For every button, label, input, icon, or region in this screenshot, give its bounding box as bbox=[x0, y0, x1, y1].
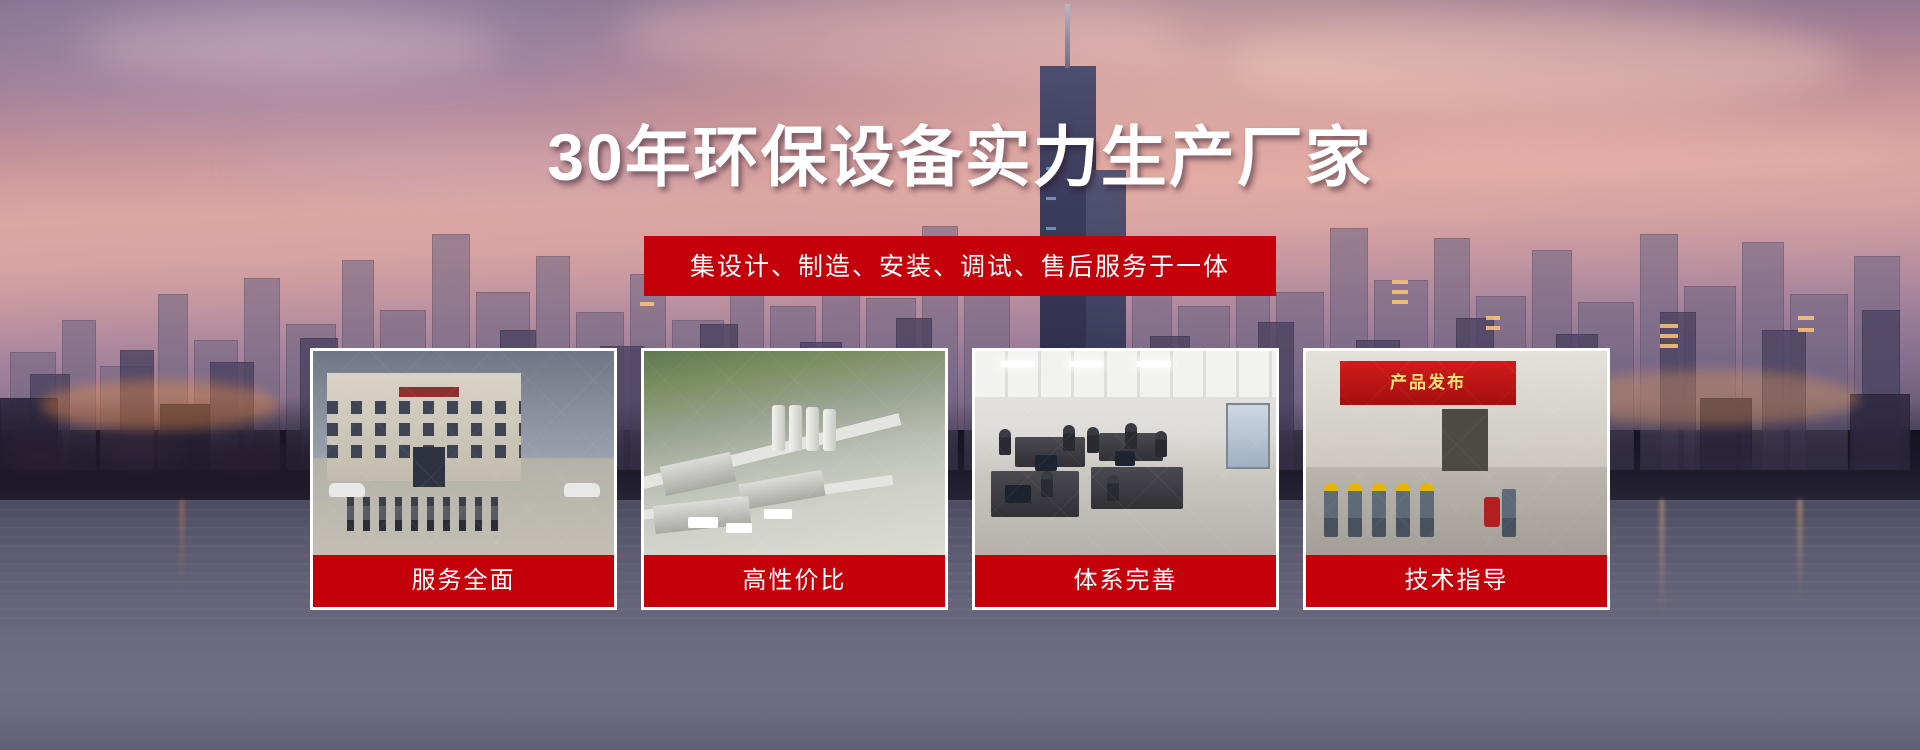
subtitle-badge: 集设计、制造、安装、调试、售后服务于一体 bbox=[644, 236, 1276, 296]
card-photo-office-building bbox=[310, 348, 617, 555]
card-caption: 体系完善 bbox=[972, 555, 1279, 610]
hero-banner: 30年环保设备实力生产厂家 集设计、制造、安装、调试、售后服务于一体 bbox=[0, 0, 1920, 750]
factory-banner-text: 产品发布 bbox=[1340, 361, 1516, 405]
card-photo-aerial-plant bbox=[641, 348, 948, 555]
factory-banner: 产品发布 bbox=[1340, 361, 1516, 405]
feature-card[interactable]: 服务全面 bbox=[310, 348, 617, 610]
subtitle-container: 集设计、制造、安装、调试、售后服务于一体 bbox=[0, 236, 1920, 296]
feature-card[interactable]: 高性价比 bbox=[641, 348, 948, 610]
card-caption: 技术指导 bbox=[1303, 555, 1610, 610]
feature-card[interactable]: 产品发布 技术指导 bbox=[1303, 348, 1610, 610]
feature-card[interactable]: 体系完善 bbox=[972, 348, 1279, 610]
feature-card-list: 服务全面 bbox=[310, 348, 1610, 610]
card-caption: 高性价比 bbox=[641, 555, 948, 610]
card-photo-factory-workers: 产品发布 bbox=[1303, 348, 1610, 555]
card-photo-office-team bbox=[972, 348, 1279, 555]
card-caption: 服务全面 bbox=[310, 555, 617, 610]
page-title: 30年环保设备实力生产厂家 bbox=[0, 104, 1920, 200]
